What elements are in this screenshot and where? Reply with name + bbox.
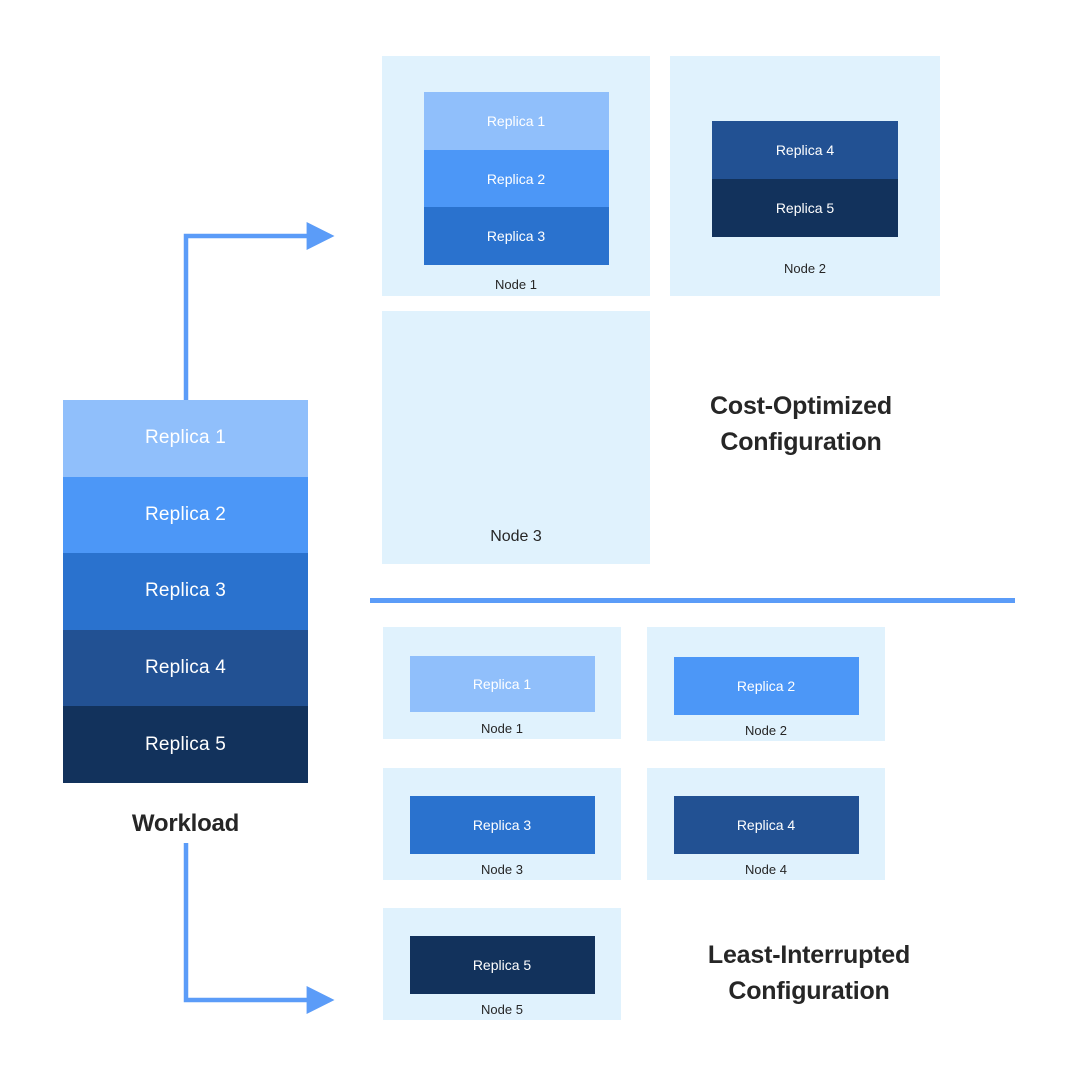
least-node-2-replicas: Replica 2: [674, 657, 859, 715]
least-node-card-1: Replica 1 Node 1: [383, 627, 621, 739]
least-interrupted-title: Least-Interrupted Configuration: [670, 938, 948, 1009]
workload-replica-1: Replica 1: [63, 400, 308, 477]
least-node-1-label: Node 1: [383, 721, 621, 736]
cost-node-1-replicas: Replica 1 Replica 2 Replica 3: [424, 92, 609, 265]
workload-replica-5: Replica 5: [63, 706, 308, 783]
cost-node-2-replicas: Replica 4 Replica 5: [712, 121, 898, 237]
least-node-5-replica-5: Replica 5: [410, 936, 595, 994]
cost-node-card-1: Replica 1 Replica 2 Replica 3 Node 1: [382, 56, 650, 296]
least-node-1-replica-1: Replica 1: [410, 656, 595, 712]
cost-node-3-label: Node 3: [382, 528, 650, 546]
least-node-card-5: Replica 5 Node 5: [383, 908, 621, 1020]
cost-optimized-title-line-1: Cost-Optimized: [710, 392, 892, 420]
cost-node-2-replica-5: Replica 5: [712, 179, 898, 237]
workload-replica-2: Replica 2: [63, 477, 308, 554]
cost-optimized-title: Cost-Optimized Configuration: [665, 389, 937, 460]
workload-replica-4: Replica 4: [63, 630, 308, 707]
cost-node-1-replica-3: Replica 3: [424, 207, 609, 265]
workload-replica-3: Replica 3: [63, 553, 308, 630]
least-node-3-label: Node 3: [383, 862, 621, 877]
least-node-4-replicas: Replica 4: [674, 796, 859, 854]
least-node-3-replica-3: Replica 3: [410, 796, 595, 854]
section-divider: [370, 598, 1015, 603]
cost-node-1-label: Node 1: [382, 277, 650, 292]
least-node-5-replicas: Replica 5: [410, 936, 595, 994]
cost-optimized-title-line-2: Configuration: [720, 428, 881, 456]
least-node-4-label: Node 4: [647, 862, 885, 877]
workload-label: Workload: [63, 810, 308, 838]
least-node-1-replicas: Replica 1: [410, 656, 595, 712]
least-interrupted-title-line-1: Least-Interrupted: [708, 941, 910, 969]
cost-node-card-3: Node 3: [382, 311, 650, 564]
least-node-card-4: Replica 4 Node 4: [647, 768, 885, 880]
least-node-card-2: Replica 2 Node 2: [647, 627, 885, 741]
least-node-4-replica-4: Replica 4: [674, 796, 859, 854]
cost-node-1-replica-1: Replica 1: [424, 92, 609, 150]
arrow-to-cost-optimized: [186, 236, 330, 400]
diagram-canvas: Replica 1 Replica 2 Replica 3 Replica 4 …: [0, 0, 1080, 1080]
least-node-card-3: Replica 3 Node 3: [383, 768, 621, 880]
least-node-5-label: Node 5: [383, 1002, 621, 1017]
least-interrupted-title-line-2: Configuration: [728, 977, 889, 1005]
arrow-to-least-interrupted: [186, 843, 330, 1000]
cost-node-2-replica-4: Replica 4: [712, 121, 898, 179]
least-node-3-replicas: Replica 3: [410, 796, 595, 854]
least-node-2-replica-2: Replica 2: [674, 657, 859, 715]
least-node-2-label: Node 2: [647, 723, 885, 738]
cost-node-2-label: Node 2: [670, 261, 940, 276]
workload-stack: Replica 1 Replica 2 Replica 3 Replica 4 …: [63, 400, 308, 783]
cost-node-1-replica-2: Replica 2: [424, 150, 609, 208]
cost-node-card-2: Replica 4 Replica 5 Node 2: [670, 56, 940, 296]
